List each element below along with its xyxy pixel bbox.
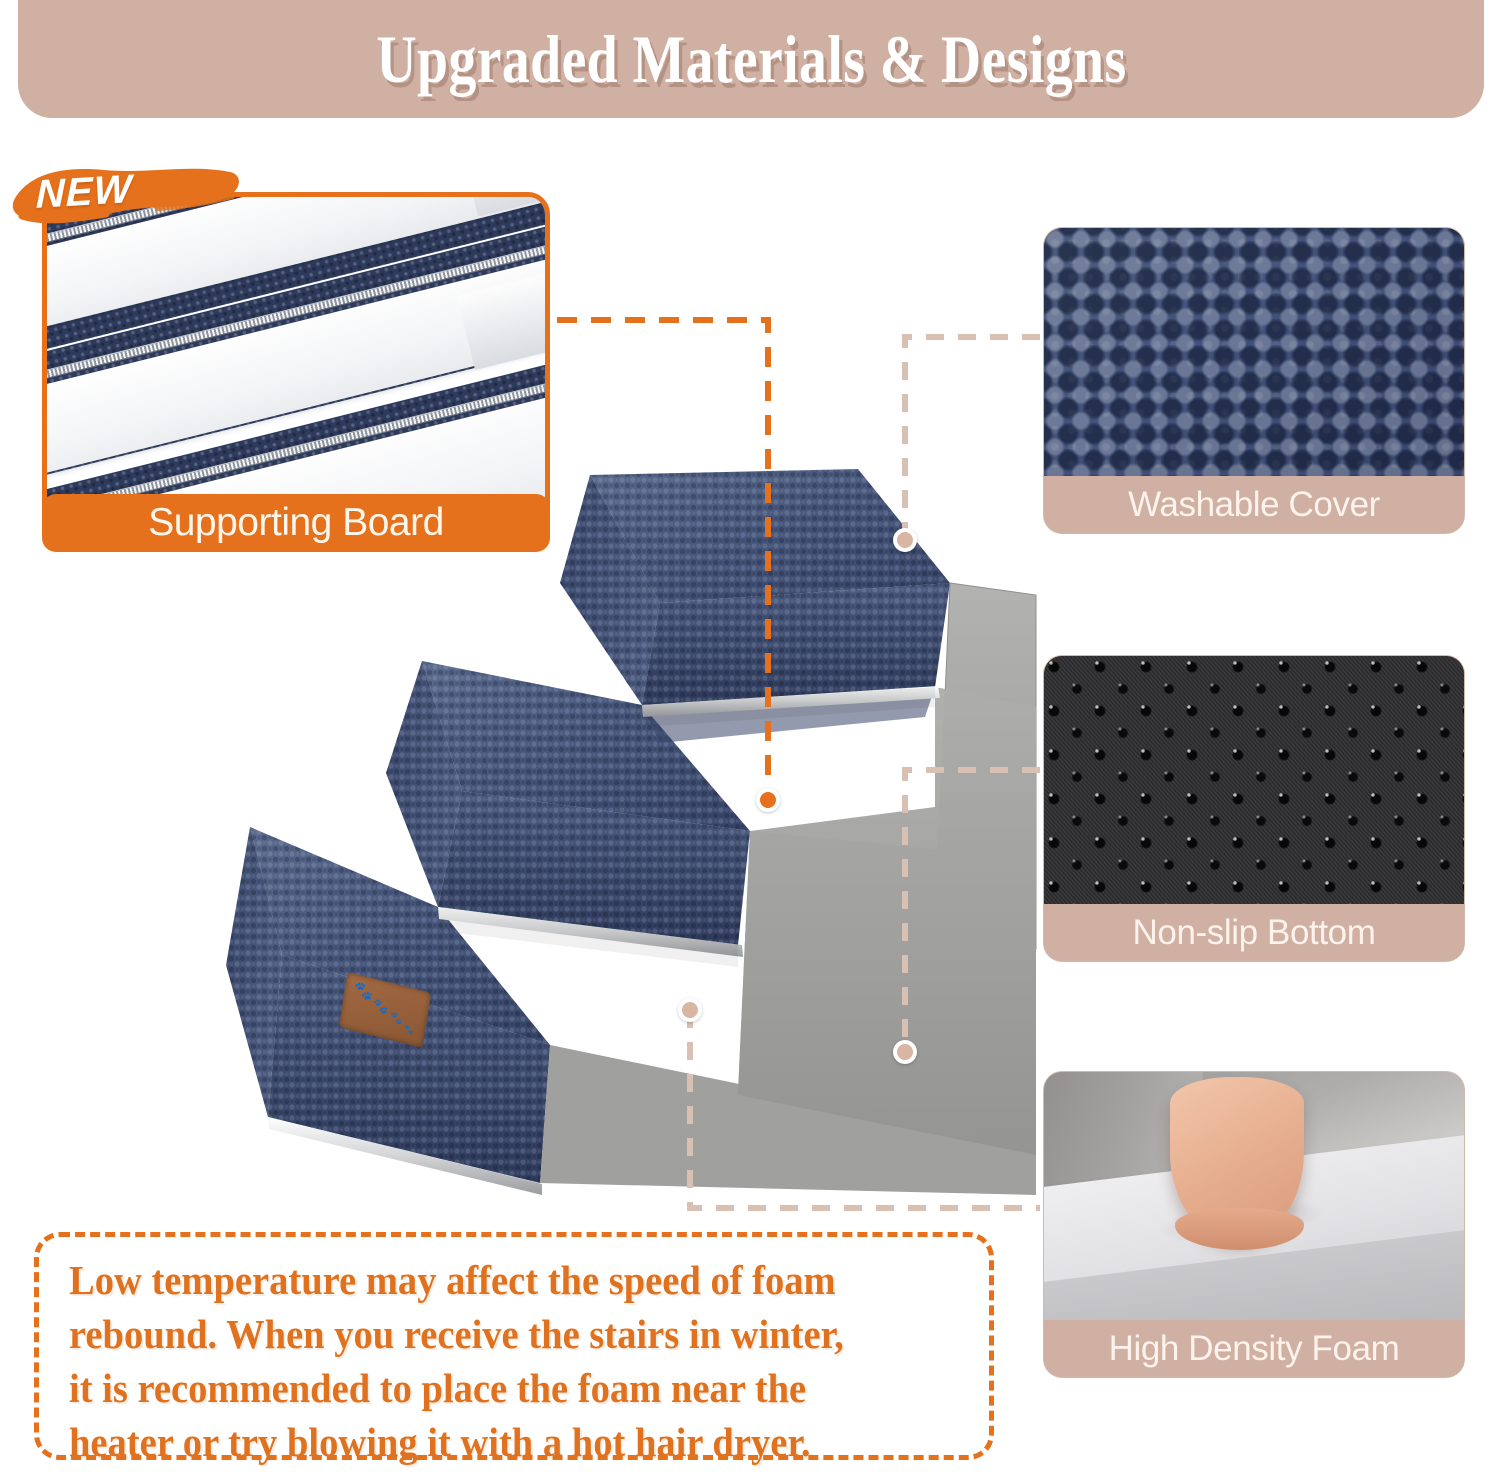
feature-card-non-slip-bottom: Non-slip Bottom: [1044, 656, 1464, 961]
note-line-1: Low temperature may affect the speed of …: [69, 1253, 909, 1307]
callout-dot-high-density-foam: [678, 998, 702, 1022]
new-badge-label: NEW: [36, 167, 133, 218]
non-slip-bottom-label: Non-slip Bottom: [1133, 913, 1376, 953]
paw-icon-2: 🐾: [372, 998, 390, 1015]
page-title: Upgraded Materials & Designs: [376, 20, 1126, 99]
callout-dot-non-slip-bottom: [893, 1040, 917, 1064]
supporting-board-label-text: Supporting Board: [148, 501, 444, 545]
step-3: [560, 469, 950, 705]
high-density-foam-photo: [1044, 1072, 1464, 1320]
note-line-2: rebound. When you receive the stairs in …: [69, 1307, 909, 1361]
hand-pressing: [1170, 1077, 1304, 1241]
feature-card-washable-cover: Washable Cover: [1044, 228, 1464, 533]
non-slip-bottom-label-bar: Non-slip Bottom: [1044, 904, 1464, 961]
high-density-foam-label-bar: High Density Foam: [1044, 1320, 1464, 1377]
washable-cover-label: Washable Cover: [1128, 485, 1380, 525]
pet-stairs-product-image: 🐾 🐾 🐾 🐾: [190, 455, 1070, 1195]
feature-card-high-density-foam: High Density Foam: [1044, 1072, 1464, 1377]
note-line-4: heater or try blowing it with a hot hair…: [69, 1415, 909, 1469]
note-line-3: it is recommended to place the foam near…: [69, 1361, 909, 1415]
washable-cover-photo: [1044, 228, 1464, 476]
callout-dot-washable-cover: [893, 528, 917, 552]
foam-texture: [1044, 1072, 1464, 1320]
high-density-foam-label: High Density Foam: [1109, 1329, 1400, 1369]
supporting-board-label: Supporting Board: [42, 494, 550, 552]
callout-dot-supporting-board: [756, 788, 780, 812]
winter-care-note: Low temperature may affect the speed of …: [34, 1232, 994, 1460]
paw-icon-4: 🐾: [404, 1025, 415, 1035]
header-banner: Upgraded Materials & Designs: [18, 0, 1484, 118]
non-slip-bottom-photo: [1044, 656, 1464, 904]
paw-icon-3: 🐾: [389, 1012, 404, 1026]
paw-icon-1: 🐾: [353, 982, 375, 1003]
pet-stairs-illustration: [190, 455, 1070, 1195]
chenille-texture: [1044, 228, 1464, 476]
grip-dot-texture: [1044, 656, 1464, 904]
washable-cover-label-bar: Washable Cover: [1044, 476, 1464, 533]
new-badge: NEW: [8, 158, 244, 232]
